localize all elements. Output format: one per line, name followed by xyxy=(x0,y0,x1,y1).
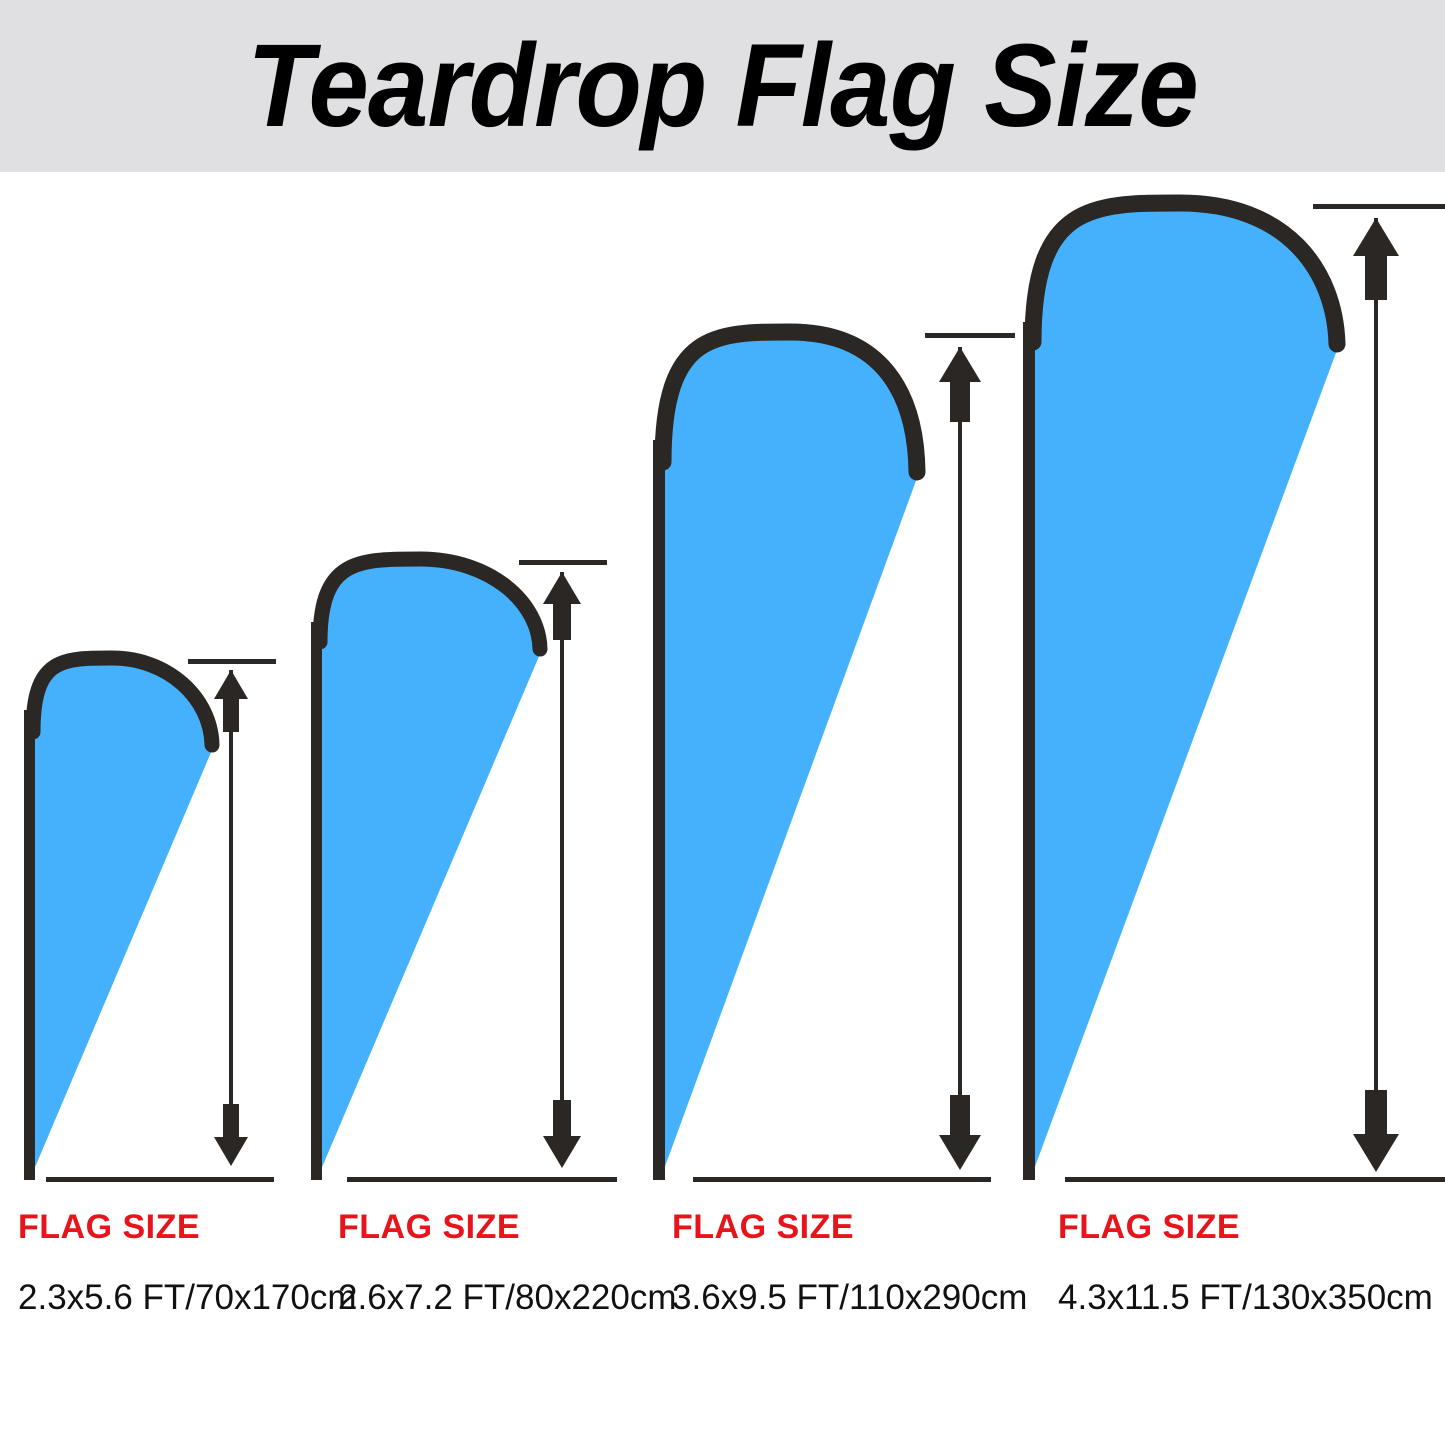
flag-4-arrow-up-icon xyxy=(1353,218,1399,300)
flag-1-pole xyxy=(24,710,35,1180)
flag-3-arrow-up-icon xyxy=(939,347,981,422)
flag-2-arrow-up-icon xyxy=(543,572,581,640)
teardrop-flag-size-infographic: Teardrop Flag Size xyxy=(0,0,1445,1445)
caption-block-3: FLAG SIZE 3.6x9.5 FT/110x290cm xyxy=(672,1210,1027,1315)
flag-4-top-tick xyxy=(1313,204,1445,209)
flag-2-drawing xyxy=(300,172,645,1210)
flag-1-dimension-shaft xyxy=(229,670,233,1148)
flag-4-drawing xyxy=(1025,172,1445,1210)
flag-2-top-tick xyxy=(519,560,607,565)
flag-4-banner-fill xyxy=(1033,203,1337,1172)
flag-group-4[interactable]: 15 FT / 450 cm xyxy=(1025,172,1445,1210)
caption-block-4: FLAG SIZE 4.3x11.5 FT/130x350cm xyxy=(1058,1210,1433,1315)
page-title: Teardrop Flag Size xyxy=(58,0,1387,172)
caption-value-4: 4.3x11.5 FT/130x350cm xyxy=(1058,1280,1433,1315)
flag-1-baseline xyxy=(46,1177,274,1182)
flag-3-baseline xyxy=(693,1177,991,1182)
flag-3-arrow-down-icon xyxy=(939,1095,981,1170)
flag-2-baseline xyxy=(347,1177,617,1182)
caption-row: FLAG SIZE 2.3x5.6 FT/70x170cm FLAG SIZE … xyxy=(0,1210,1445,1445)
flag-3-dimension-shaft xyxy=(958,347,962,1152)
flag-2-banner-fill xyxy=(320,559,540,1172)
flag-2-pole xyxy=(311,622,322,1180)
flag-2-arrow-down-icon xyxy=(543,1100,581,1168)
caption-title-2: FLAG SIZE xyxy=(338,1210,677,1244)
flag-3-pole xyxy=(653,440,665,1180)
flag-1-top-tick xyxy=(188,659,276,664)
caption-title-1: FLAG SIZE xyxy=(18,1210,357,1244)
flag-3-top-tick xyxy=(925,333,1015,338)
flag-1-drawing xyxy=(0,172,300,1210)
flag-1-arrow-up-icon xyxy=(214,670,248,732)
flag-group-1[interactable]: 7.5 FT / 225 cm xyxy=(0,172,300,1210)
flag-1-banner-fill xyxy=(33,658,212,1172)
caption-value-3: 3.6x9.5 FT/110x290cm xyxy=(672,1280,1027,1315)
flag-1-arrow-down-icon xyxy=(214,1104,248,1166)
flag-4-baseline xyxy=(1065,1177,1445,1182)
caption-title-4: FLAG SIZE xyxy=(1058,1210,1433,1244)
caption-title-3: FLAG SIZE xyxy=(672,1210,1027,1244)
flag-diagram-stage: 7.5 FT / 225 cm 9 FT /275 cm xyxy=(0,172,1445,1210)
flag-3-banner-fill xyxy=(663,332,917,1172)
flag-3-drawing xyxy=(645,172,1025,1210)
flag-group-2[interactable]: 9 FT /275 cm xyxy=(300,172,645,1210)
caption-block-1: FLAG SIZE 2.3x5.6 FT/70x170cm xyxy=(18,1210,357,1315)
flag-4-pole xyxy=(1023,322,1035,1180)
flag-4-dimension-shaft xyxy=(1374,218,1378,1153)
flag-4-arrow-down-icon xyxy=(1353,1090,1399,1172)
flag-group-3[interactable]: 12.5 FT / 380 cm xyxy=(645,172,1025,1210)
caption-value-1: 2.3x5.6 FT/70x170cm xyxy=(18,1280,357,1315)
flag-2-dimension-shaft xyxy=(560,572,564,1150)
caption-value-2: 2.6x7.2 FT/80x220cm xyxy=(338,1280,677,1315)
caption-block-2: FLAG SIZE 2.6x7.2 FT/80x220cm xyxy=(338,1210,677,1315)
